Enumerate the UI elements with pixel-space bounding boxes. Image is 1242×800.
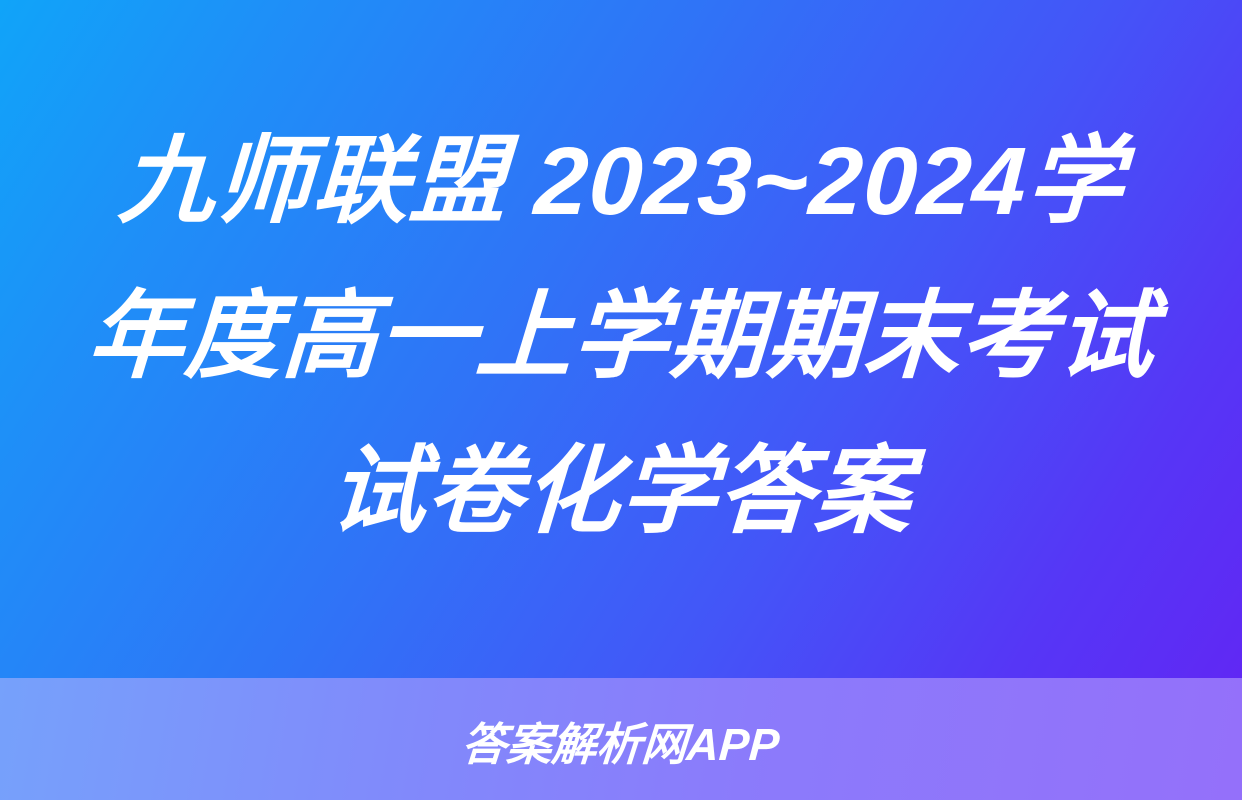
poster-canvas: 九师联盟 2023~2024学 年度高一上学期期末考试 试卷化学答案 答案解析网…	[0, 0, 1242, 800]
footer-brand-label: 答案解析网APP	[460, 708, 782, 773]
hero-gradient-band: 九师联盟 2023~2024学 年度高一上学期期末考试 试卷化学答案	[0, 0, 1242, 678]
footer-brand-band: 答案解析网APP	[0, 678, 1242, 800]
title-line-1: 九师联盟 2023~2024学	[115, 104, 1128, 259]
title-line-3: 试卷化学答案	[326, 414, 916, 569]
poster-title-block: 九师联盟 2023~2024学 年度高一上学期期末考试 试卷化学答案	[0, 0, 1242, 678]
title-line-2: 年度高一上学期期末考试	[83, 259, 1158, 414]
